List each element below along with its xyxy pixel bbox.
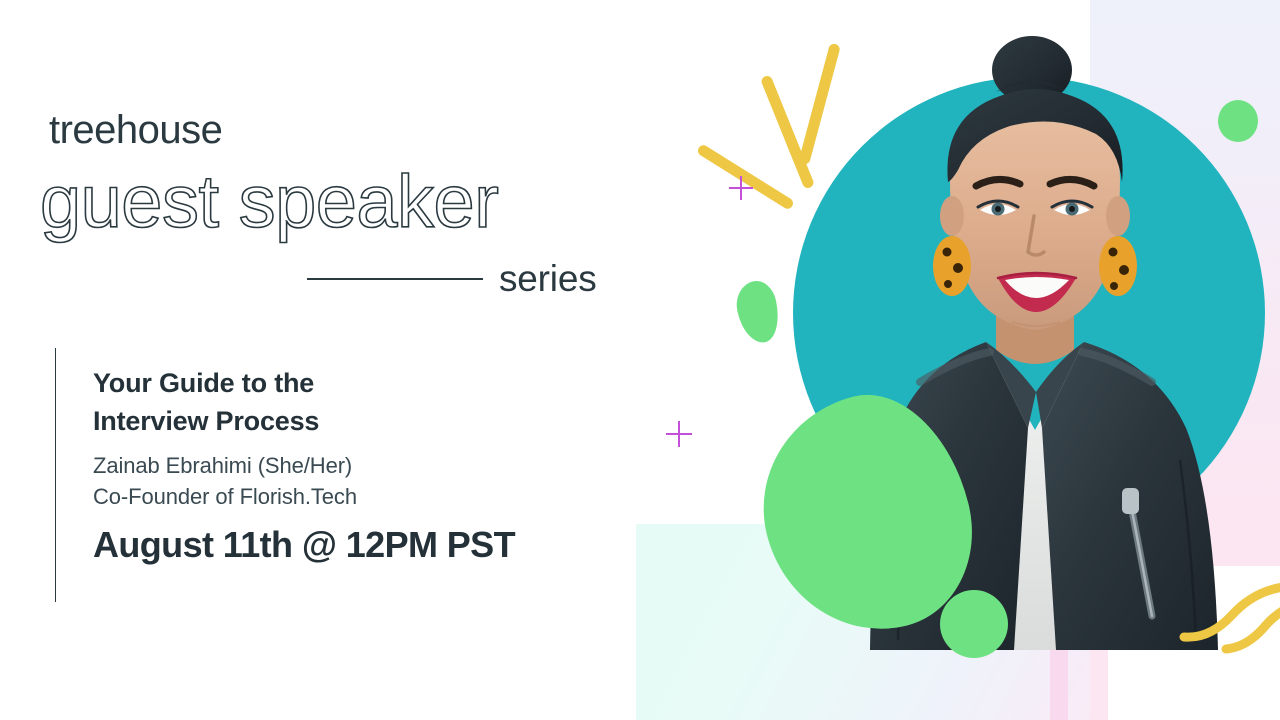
event-details-block: Your Guide to the Interview Process Zain… bbox=[55, 348, 515, 602]
headline-guest-speaker: guest speaker bbox=[40, 165, 498, 239]
green-circle-top-right bbox=[1218, 100, 1258, 142]
magenta-cross-upper bbox=[729, 176, 753, 200]
magenta-cross-lower bbox=[666, 421, 692, 447]
series-divider-rule bbox=[307, 278, 483, 280]
green-circle-bottom bbox=[940, 590, 1008, 658]
speaker-role: Co-Founder of Florish.Tech bbox=[93, 481, 515, 512]
brand-wordmark: treehouse bbox=[49, 108, 222, 153]
yellow-swoosh-2 bbox=[1222, 595, 1280, 665]
series-label: series bbox=[499, 258, 597, 300]
green-blob-small bbox=[732, 278, 784, 347]
event-datetime: August 11th @ 12PM PST bbox=[93, 524, 515, 566]
speaker-name: Zainab Ebrahimi (She/Her) bbox=[93, 450, 515, 481]
poster-canvas: treehouse guest speaker series Your Guid… bbox=[0, 0, 1280, 720]
series-row: series bbox=[307, 256, 623, 302]
talk-title: Your Guide to the Interview Process bbox=[93, 364, 515, 441]
